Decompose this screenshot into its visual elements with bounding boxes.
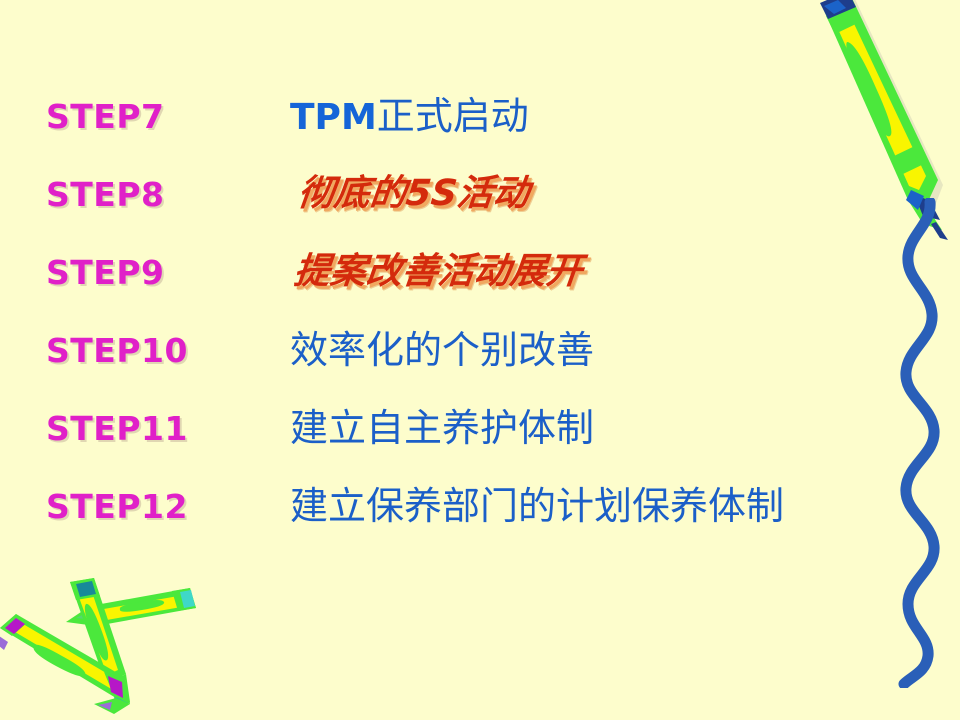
crayon-purple <box>0 614 130 714</box>
step-description: TPM正式启动 <box>290 97 529 136</box>
step-label: STEP8 <box>46 175 164 214</box>
step-label: STEP11 <box>46 409 188 448</box>
step-label: STEP9 <box>46 253 164 292</box>
crayon-cyan <box>66 588 196 626</box>
step-description: 彻底的5S活动 <box>296 176 531 212</box>
step-label: STEP10 <box>46 331 188 370</box>
crayons-group-icon <box>0 556 234 720</box>
step-description: 效率化的个别改善 <box>290 331 594 369</box>
step-row: STEP7 TPM正式启动 <box>0 86 960 146</box>
step-description-rest: 正式启动 <box>377 94 529 138</box>
step-label: STEP7 <box>46 97 164 136</box>
step-description: 建立保养部门的计划保养体制 <box>290 487 784 525</box>
step-description-lead: TPM <box>290 97 377 138</box>
step-row: STEP10 效率化的个别改善 <box>0 320 960 380</box>
crayon-teal <box>70 578 130 712</box>
step-label: STEP12 <box>46 487 188 526</box>
step-row: STEP11 建立自主养护体制 <box>0 398 960 458</box>
step-row: STEP12 建立保养部门的计划保养体制 <box>0 476 960 536</box>
step-row: STEP9 提案改善活动展开 <box>0 242 960 302</box>
slide-canvas: STEP7 TPM正式启动 STEP8 彻底的5S活动 STEP9 提案改善活动… <box>0 0 960 720</box>
step-description: 提案改善活动展开 <box>292 254 584 290</box>
step-description: 建立自主养护体制 <box>290 409 594 447</box>
step-row: STEP8 彻底的5S活动 <box>0 164 960 224</box>
